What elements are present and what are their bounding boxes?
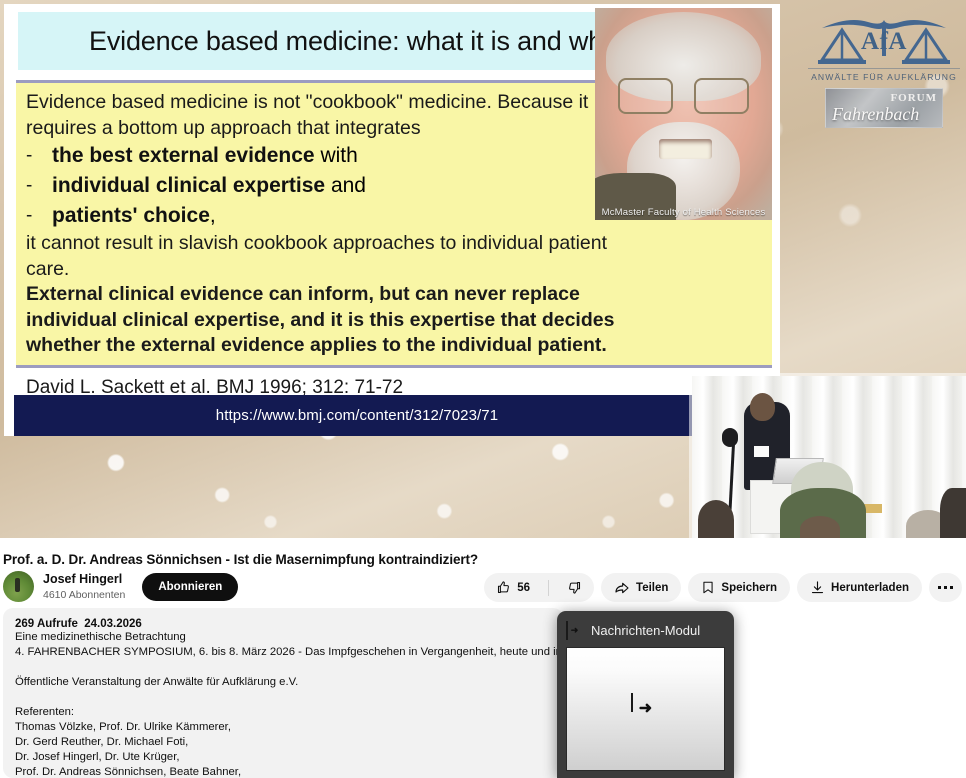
audience-head-3	[698, 500, 734, 538]
page-title: Prof. a. D. Dr. Andreas Sönnichsen - Ist…	[3, 552, 478, 567]
description-stats: 269 Aufrufe 24.03.2026	[15, 618, 551, 630]
speaker-head	[750, 393, 775, 421]
slide-url-text: https://www.bmj.com/content/312/7023/71	[216, 407, 498, 424]
portrait-mouth	[659, 139, 712, 158]
forum-name: Fahrenbach	[832, 104, 919, 125]
bullet-dash: -	[26, 141, 52, 171]
bullet-strong: patients' choice	[52, 204, 210, 227]
share-button[interactable]: Teilen	[601, 573, 681, 602]
more-horizontal-icon	[938, 586, 954, 590]
avatar[interactable]	[3, 571, 34, 602]
save-button[interactable]: Speichern	[688, 573, 790, 602]
afa-logo: AfA ANWÄLTE FÜR AUFKLÄRUNG FORUM Fahrenb…	[808, 6, 960, 130]
bookmark-icon	[701, 580, 715, 595]
dialog-title: Nachrichten-Modul	[591, 623, 700, 638]
speaker-video-inset	[692, 376, 966, 538]
audience-head-5	[940, 488, 966, 538]
save-label: Speichern	[721, 582, 777, 594]
dislike-button[interactable]	[555, 573, 594, 602]
download-button[interactable]: Herunterladen	[797, 573, 922, 602]
bullet-strong: the best external evidence	[52, 144, 315, 167]
slide-url-bar: https://www.bmj.com/content/312/7023/71	[14, 395, 700, 436]
bullet-dash: -	[26, 201, 52, 231]
glasses-lens-right	[694, 78, 749, 114]
bullet-rest: with	[315, 144, 358, 167]
view-count: 269 Aufrufe	[15, 618, 78, 630]
audience-head-2	[800, 516, 840, 538]
upload-date: 24.03.2026	[84, 618, 142, 630]
speaker-line: Thomas Völzke, Prof. Dr. Ulrike Kämmerer…	[15, 720, 551, 735]
action-bar: 56 Teilen Speichern	[484, 573, 962, 602]
bullet-rest: ,	[210, 204, 216, 227]
glasses-icon	[618, 78, 749, 114]
dialog-titlebar[interactable]: ➜ Nachrichten-Modul	[566, 618, 725, 642]
bullet-dash: -	[26, 171, 52, 201]
download-icon	[810, 580, 825, 595]
slide-bold-line-3: whether the external evidence applies to…	[26, 333, 762, 359]
description-panel[interactable]: 269 Aufrufe 24.03.2026 Eine medizinethis…	[3, 608, 563, 778]
slide-after-line-1: it cannot result in slavish cookbook app…	[26, 231, 762, 257]
like-count: 56	[517, 582, 530, 594]
afa-acronym: AfA	[808, 28, 960, 56]
channel-row: Josef Hingerl 4610 Abonnenten Abonnieren	[3, 571, 238, 602]
like-dislike-group: 56	[484, 573, 594, 602]
microphone-icon	[722, 428, 738, 447]
subscribe-button[interactable]: Abonnieren	[142, 573, 238, 601]
description-spacer	[15, 660, 551, 675]
nachrichten-modul-dialog[interactable]: ➜ Nachrichten-Modul ➜	[557, 611, 734, 778]
speakers-header: Referenten:	[15, 705, 551, 720]
channel-name[interactable]: Josef Hingerl	[43, 572, 125, 586]
presentation-slide: Evidence based medicine: what it is and …	[4, 4, 780, 436]
subscriber-count: 4610 Abonnenten	[43, 589, 125, 601]
forum-fahrenbach-logo: FORUM Fahrenbach	[825, 88, 943, 128]
dialog-body-icon-glyph: ➜	[631, 694, 661, 724]
speaker-name-badge	[754, 446, 769, 457]
video-player[interactable]: Evidence based medicine: what it is and …	[0, 0, 966, 538]
thumbs-down-icon	[567, 580, 582, 595]
portrait-photo: McMaster Faculty of Health Sciences	[595, 8, 772, 220]
action-divider	[548, 580, 549, 596]
slide-bold-line-2: individual clinical expertise, and it is…	[26, 308, 762, 334]
dialog-body[interactable]: ➜	[566, 647, 725, 771]
download-label: Herunterladen	[831, 582, 909, 594]
bullet-rest: and	[325, 174, 366, 197]
like-button[interactable]: 56	[484, 573, 542, 602]
share-icon	[614, 580, 630, 596]
more-actions-button[interactable]	[929, 573, 962, 602]
dialog-icon-glyph: ➜	[566, 622, 583, 639]
slide-after-line-2: care.	[26, 257, 762, 283]
description-spacer	[15, 690, 551, 705]
speaker-line: Dr. Gerd Reuther, Dr. Michael Foti,	[15, 735, 551, 750]
diamond-arrow-icon-large[interactable]: ➜	[631, 694, 661, 724]
speaker-line: Prof. Dr. Andreas Sönnichsen, Beate Bahn…	[15, 765, 551, 778]
description-subtitle: Eine medizinethische Betrachtung	[15, 630, 551, 645]
speaker-line: Dr. Josef Hingerl, Dr. Ute Krüger,	[15, 750, 551, 765]
forum-label: FORUM	[890, 92, 937, 104]
share-label: Teilen	[636, 582, 668, 594]
portrait-credit: McMaster Faculty of Health Sciences	[595, 207, 772, 218]
bullet-strong: individual clinical expertise	[52, 174, 325, 197]
diamond-arrow-icon: ➜	[566, 622, 583, 639]
thumbs-up-icon	[496, 580, 511, 595]
afa-subtitle: ANWÄLTE FÜR AUFKLÄRUNG	[808, 68, 960, 82]
slide-bold-line-1: External clinical evidence can inform, b…	[26, 282, 762, 308]
description-symposium: 4. FAHRENBACHER SYMPOSIUM, 6. bis 8. Mär…	[15, 645, 551, 660]
glasses-lens-left	[618, 78, 673, 114]
description-event: Öffentliche Veranstaltung der Anwälte fü…	[15, 675, 551, 690]
channel-meta: Josef Hingerl 4610 Abonnenten	[43, 572, 125, 600]
